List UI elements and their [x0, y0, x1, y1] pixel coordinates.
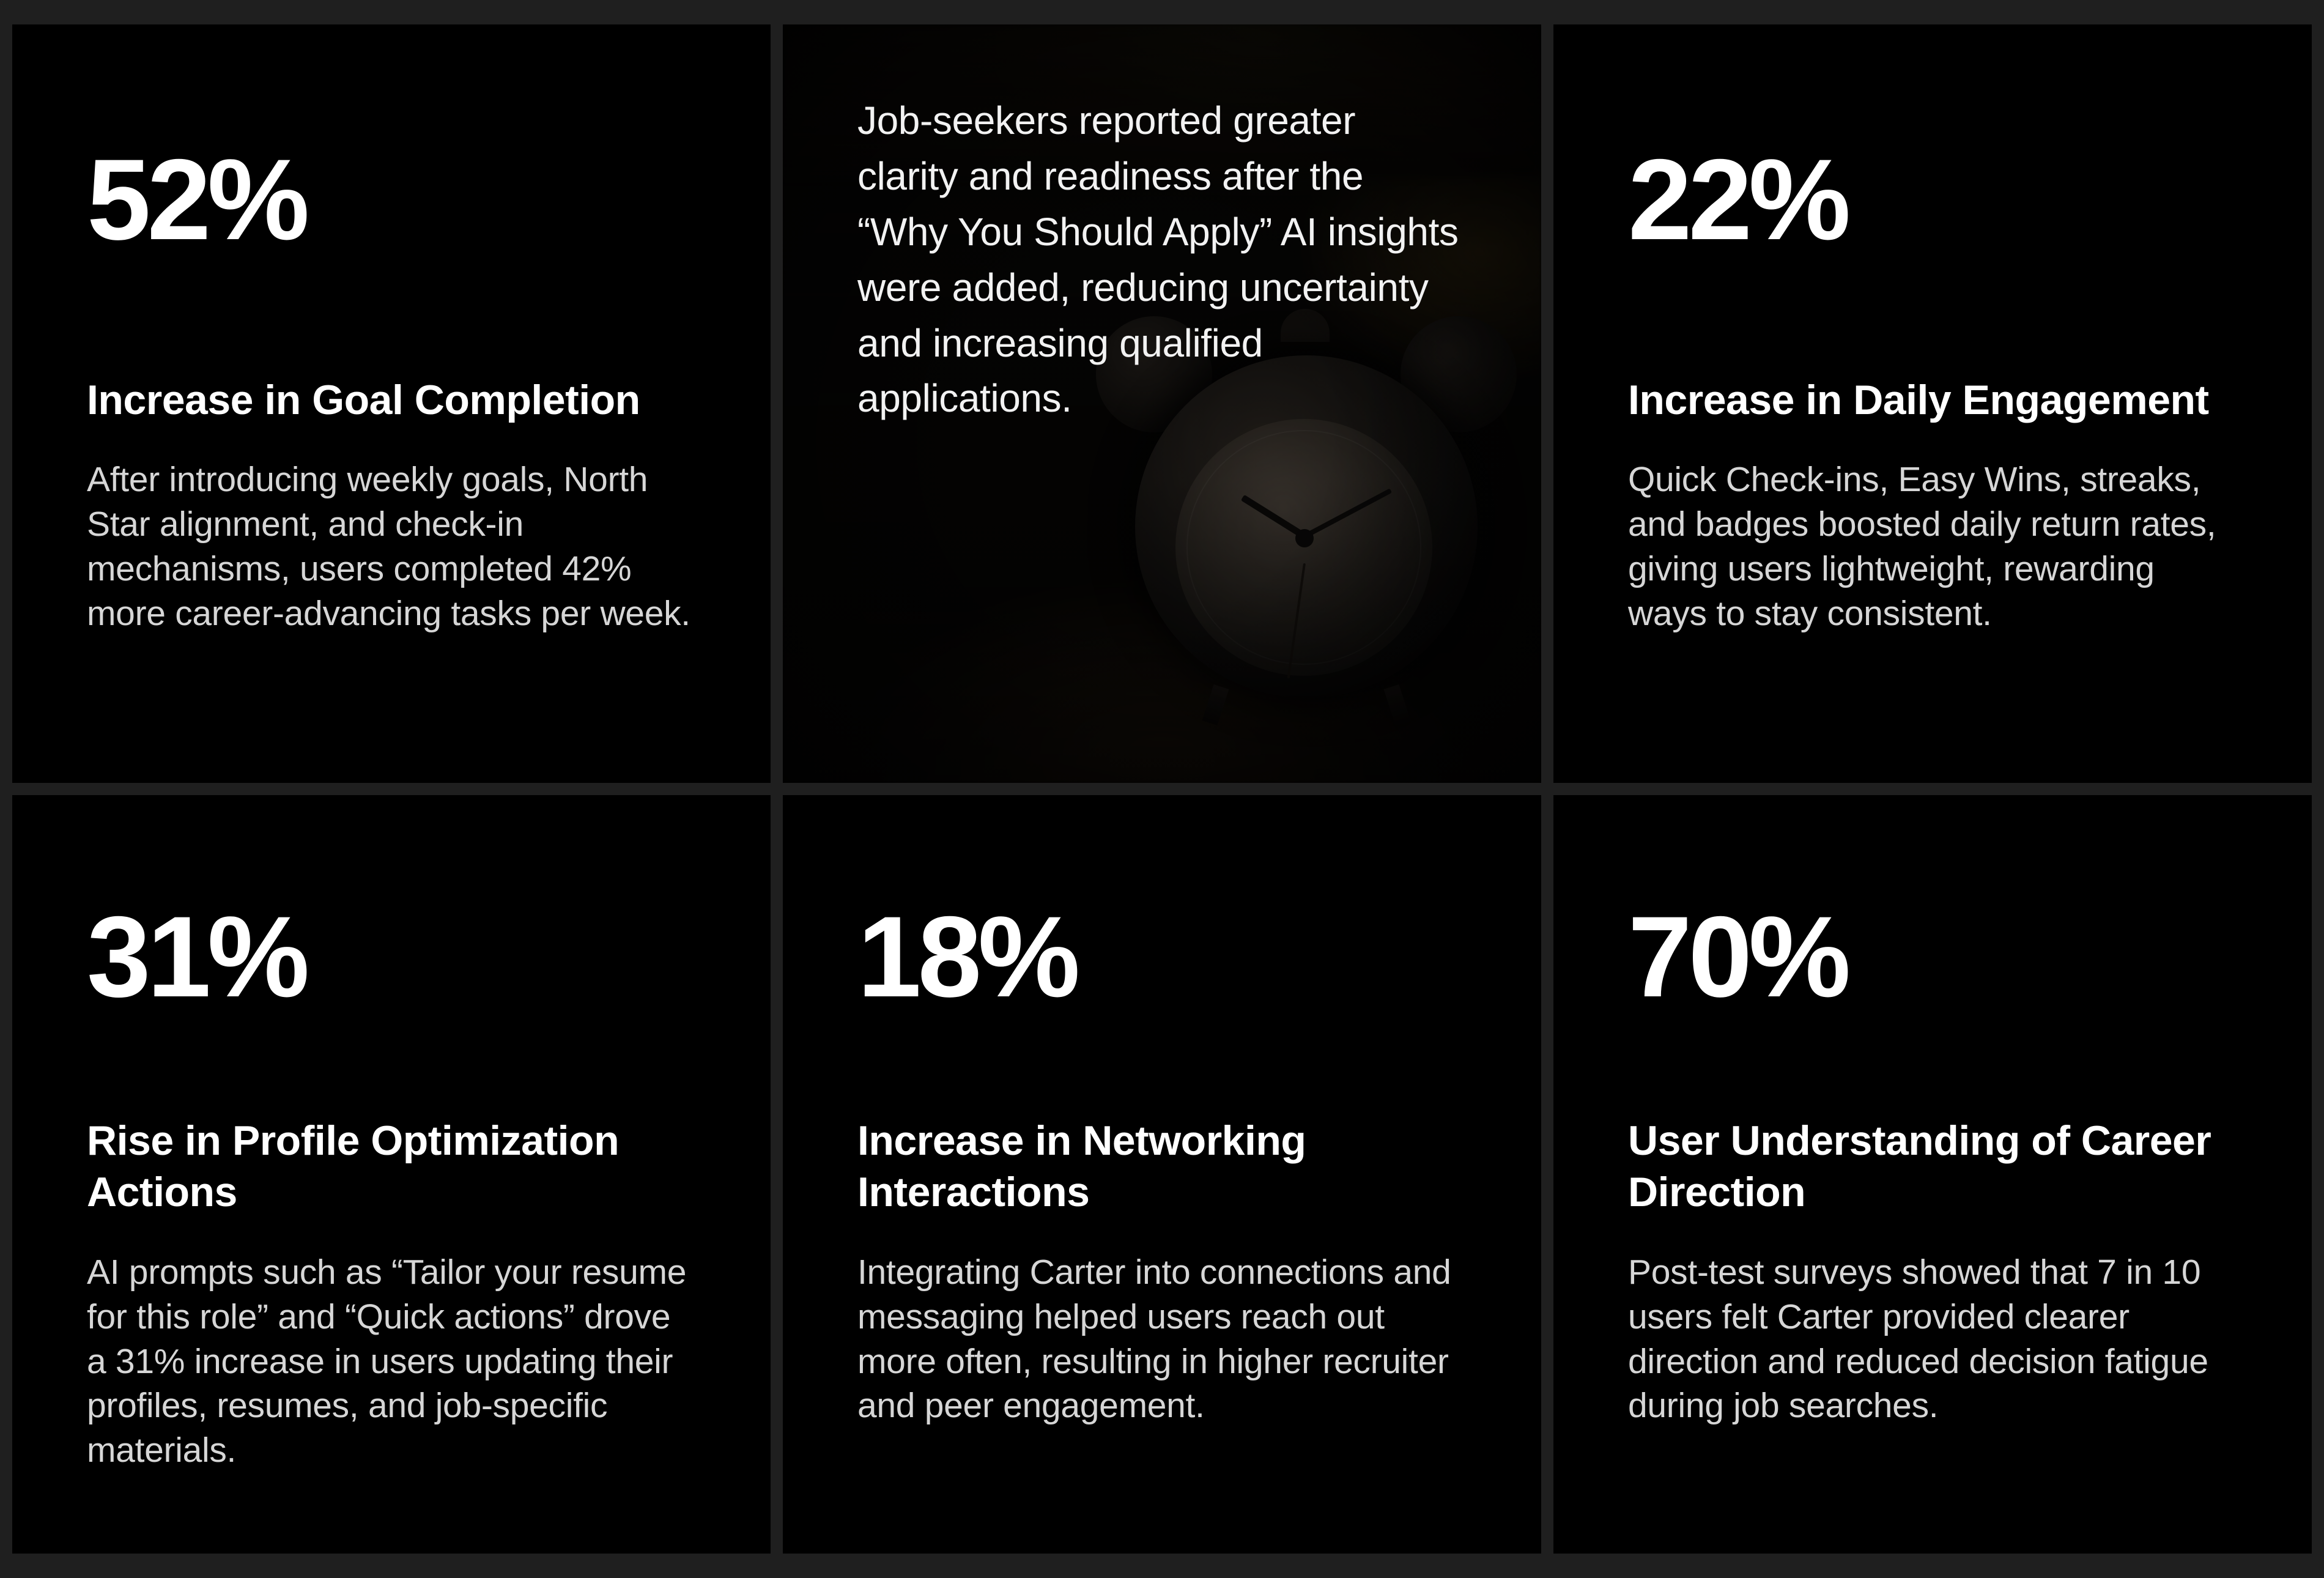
- stat-number: 70%: [1628, 795, 2237, 1014]
- stat-title: Rise in Profile Optimization Actions: [87, 1014, 696, 1218]
- stat-number: 22%: [1628, 24, 2237, 257]
- stat-title: User Understanding of Career Direction: [1628, 1014, 2237, 1218]
- stat-number: 52%: [87, 24, 696, 257]
- stat-description: Quick Check-ins, Easy Wins, streaks, and…: [1628, 426, 2237, 636]
- quote-text: Job-seekers reported greater clarity and…: [783, 24, 1541, 426]
- stat-card-career-direction: 70% User Understanding of Career Directi…: [1553, 795, 2312, 1554]
- stat-title: Increase in Goal Completion: [87, 257, 696, 426]
- quote-card-with-photo: Job-seekers reported greater clarity and…: [783, 24, 1541, 783]
- stat-card-goal-completion: 52% Increase in Goal Completion After in…: [12, 24, 771, 783]
- stat-description: AI prompts such as “Tailor your resume f…: [87, 1218, 696, 1473]
- stat-card-profile-optimization: 31% Rise in Profile Optimization Actions…: [12, 795, 771, 1554]
- stat-card-daily-engagement: 22% Increase in Daily Engagement Quick C…: [1553, 24, 2312, 783]
- stat-number: 18%: [857, 795, 1467, 1014]
- stat-title: Increase in Daily Engagement: [1628, 257, 2237, 426]
- stat-card-networking-interactions: 18% Increase in Networking Interactions …: [783, 795, 1541, 1554]
- stat-description: Post-test surveys showed that 7 in 10 us…: [1628, 1218, 2237, 1429]
- stat-description: Integrating Carter into connections and …: [857, 1218, 1467, 1429]
- stat-number: 31%: [87, 795, 696, 1014]
- stat-description: After introducing weekly goals, North St…: [87, 426, 696, 636]
- stats-grid: 52% Increase in Goal Completion After in…: [12, 24, 2312, 1554]
- stat-title: Increase in Networking Interactions: [857, 1014, 1467, 1218]
